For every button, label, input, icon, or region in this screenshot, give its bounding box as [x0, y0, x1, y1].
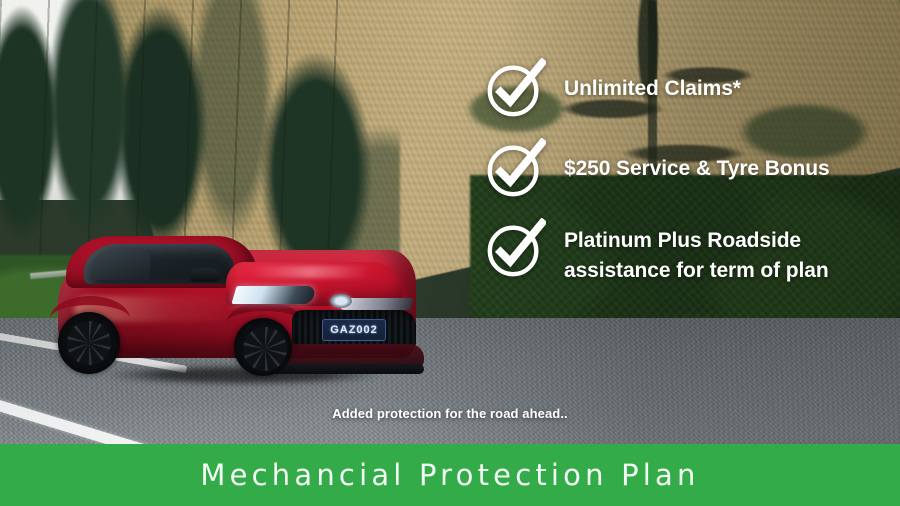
vehicle-bonnet-highlight — [250, 266, 370, 278]
feature-list: Unlimited Claims* $250 Service & Tyre Bo… — [484, 62, 884, 287]
rear-wheel-rim — [67, 321, 111, 365]
vehicle-side-window — [92, 250, 150, 280]
caption-text: Added protection for the road ahead.. — [0, 406, 900, 421]
feature-item-platinum-roadside: Platinum Plus Roadside assistance for te… — [484, 222, 884, 287]
vehicle-front-wheel — [234, 318, 292, 376]
feature-label: $250 Service & Tyre Bonus — [564, 142, 830, 184]
vehicle: GAZ002 — [40, 226, 430, 386]
footer-banner: Mechancial Protection Plan — [0, 444, 900, 506]
circle-check-icon — [484, 58, 546, 120]
front-wheel-rim — [243, 327, 287, 371]
circle-check-icon — [484, 218, 546, 280]
vehicle-rear-wheel — [58, 312, 120, 374]
feature-label: Unlimited Claims* — [564, 62, 741, 104]
vehicle-badge-icon — [330, 294, 352, 308]
license-plate: GAZ002 — [322, 319, 386, 341]
plan-title: Mechancial Protection Plan — [200, 458, 699, 492]
feature-item-service-tyre-bonus: $250 Service & Tyre Bonus — [484, 142, 884, 200]
license-plate-text: GAZ002 — [330, 324, 378, 336]
feature-item-unlimited-claims: Unlimited Claims* — [484, 62, 884, 120]
vehicle-headlight-left — [231, 286, 316, 304]
feature-label: Platinum Plus Roadside assistance for te… — [564, 222, 876, 287]
vehicle-side-mirror — [190, 268, 220, 282]
promo-banner: GAZ002 Unlimited Claims* — [0, 0, 900, 506]
circle-check-icon — [484, 138, 546, 200]
